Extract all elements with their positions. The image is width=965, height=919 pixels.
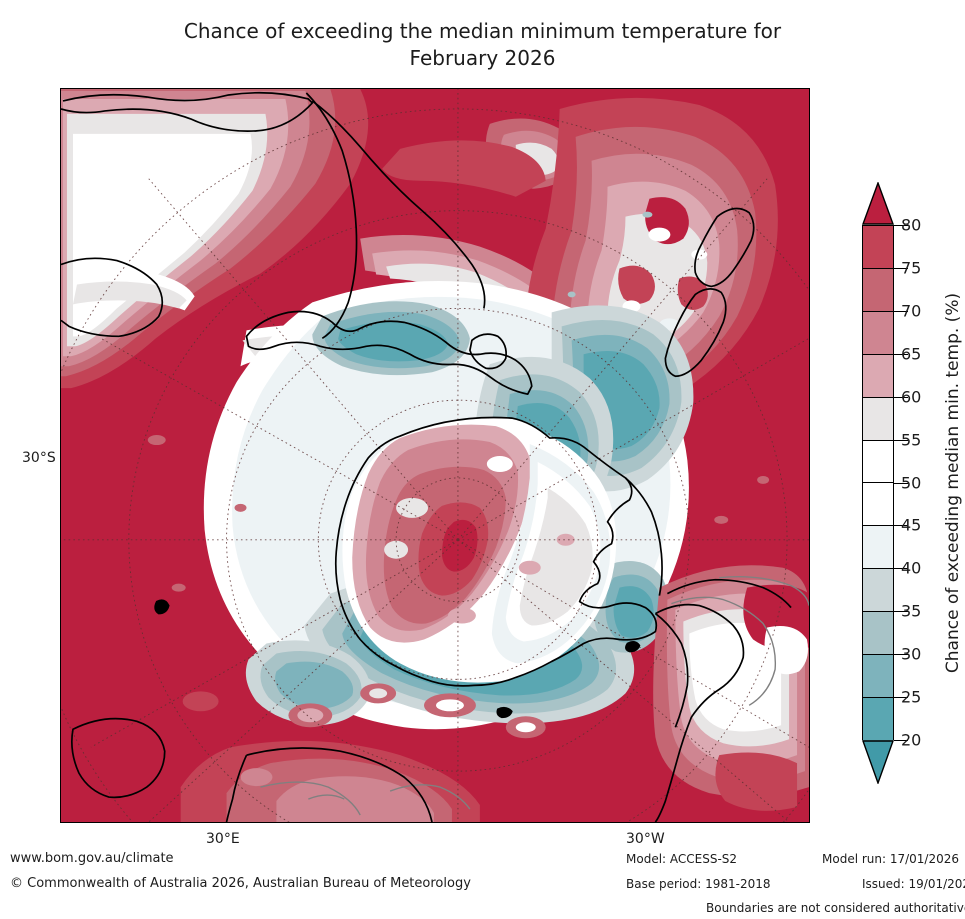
lon-axis-label-30w: 30°W [626,831,665,847]
colorbar: 80757065605550454035302520 Chance of exc… [855,182,965,784]
colorbar-band-10 [863,655,893,698]
colorbar-band-11 [863,698,893,741]
colorbar-ticklabel-75: 75 [901,258,921,277]
colorbar-bands [862,225,894,740]
colorbar-axis-label-text: Chance of exceeding median min. temp. (%… [943,293,963,673]
colorbar-ticklabel-60: 60 [901,387,921,406]
footer-issued: Issued: 19/01/2026 [862,877,965,891]
footer-copyright: © Commonwealth of Australia 2026, Austra… [10,876,471,891]
colorbar-band-0 [863,226,893,269]
colorbar-ticklabel-40: 40 [901,559,921,578]
colorbar-ticklabel-45: 45 [901,516,921,535]
colorbar-band-4 [863,398,893,441]
colorbar-axis-label: Chance of exceeding median min. temp. (%… [941,182,965,784]
footer-boundaries-note: Boundaries are not considered authoritat… [706,901,965,915]
map-canvas [61,89,809,822]
colorbar-ticklabel-30: 30 [901,645,921,664]
colorbar-ticklabel-35: 35 [901,602,921,621]
footer-model: Model: ACCESS-S2 [626,852,737,866]
colorbar-ticklabel-50: 50 [901,473,921,492]
colorbar-ticklabel-80: 80 [901,216,921,235]
colorbar-ticklabel-55: 55 [901,430,921,449]
colorbar-under-arrow [862,740,894,784]
colorbar-ticklabel-65: 65 [901,344,921,363]
colorbar-ticklabel-25: 25 [901,688,921,707]
colorbar-band-6 [863,483,893,526]
colorbar-band-8 [863,569,893,612]
page-title: Chance of exceeding the median minimum t… [0,18,965,72]
colorbar-band-1 [863,269,893,312]
colorbar-band-9 [863,612,893,655]
colorbar-band-3 [863,355,893,398]
colorbar-band-5 [863,441,893,484]
lat-axis-label-30s: 30°S [22,450,56,466]
footer-website-link[interactable]: www.bom.gov.au/climate [10,851,174,866]
colorbar-band-7 [863,526,893,569]
colorbar-band-2 [863,312,893,355]
map-panel[interactable] [60,88,810,823]
footer-model-run: Model run: 17/01/2026 [822,852,959,866]
colorbar-over-arrow [862,182,894,225]
colorbar-ticklabel-70: 70 [901,301,921,320]
lon-axis-label-30e: 30°E [206,831,240,847]
colorbar-ticklabel-20: 20 [901,731,921,750]
footer-base-period: Base period: 1981-2018 [626,877,771,891]
